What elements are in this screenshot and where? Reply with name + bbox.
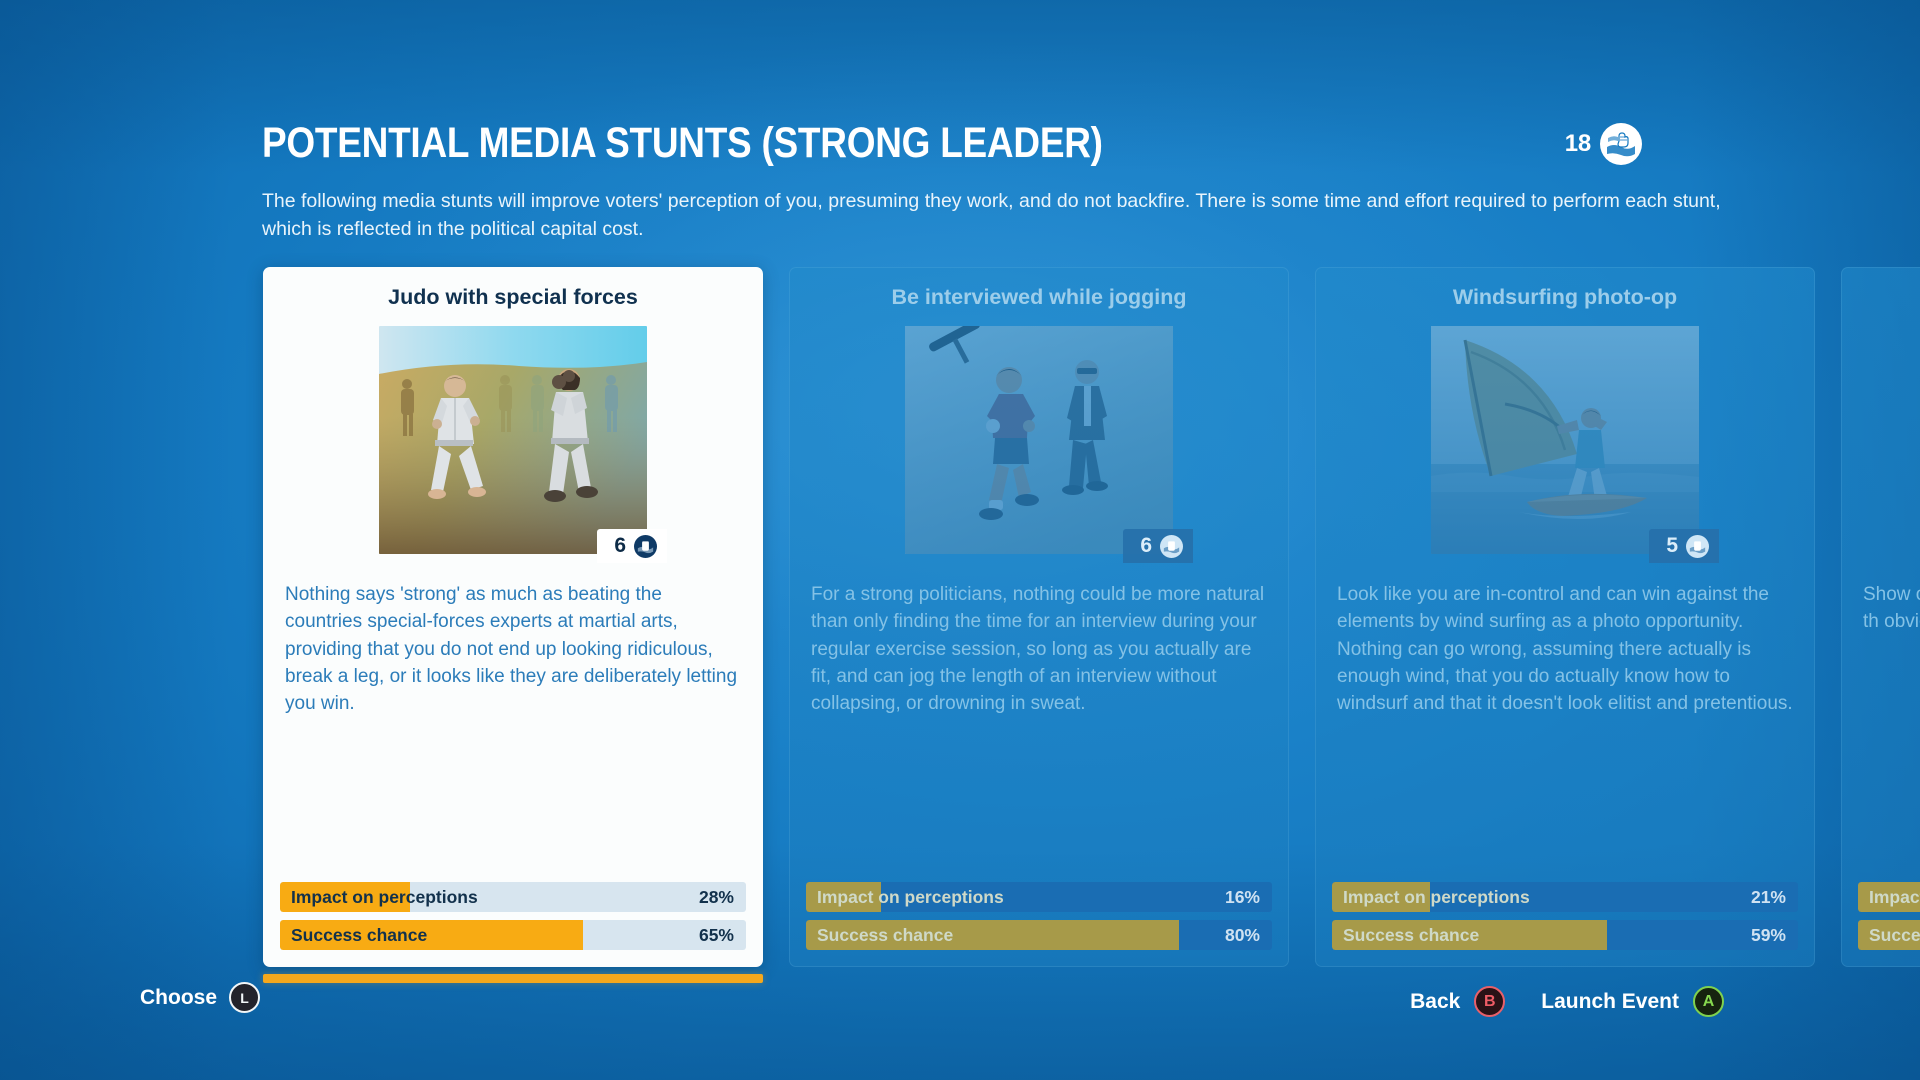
stunt-card-jogging[interactable]: Be interviewed while jogging [789,267,1289,967]
page-intro-text: The following media stunts will improve … [262,187,1742,243]
page-header: POTENTIAL MEDIA STUNTS (STRONG LEADER) 1… [262,120,1662,243]
card-stats: Impact on perceptions 21% Success chance… [1332,882,1798,950]
fist-globe-icon [1160,535,1183,558]
card-title: Judo with special forces [285,285,741,315]
card-stats: Impact on perceptions 16% Success chance… [806,882,1272,950]
selected-card-indicator [263,974,763,983]
stat-impact: Impact on perceptions 28% [280,882,746,912]
card-title: Play [1863,285,1920,315]
stat-value: 65% [699,925,746,946]
stat-label: Success [1858,925,1920,946]
windsurfing-artwork [1431,326,1699,554]
card-stats: Impact on perceptions 28% Success chance… [280,882,746,950]
card-description: Look like you are in-control and can win… [1337,581,1793,882]
cost-badge: 6 [597,529,667,563]
stunt-card-judo[interactable]: Judo with special forces [263,267,763,967]
stunt-card-partial[interactable]: Play [1841,267,1920,967]
stat-success: Success chance 59% [1332,920,1798,950]
b-button[interactable]: B [1474,986,1505,1017]
card-artwork-wrapper: 6 [905,326,1173,554]
cost-value: 6 [1140,534,1152,558]
jogging-artwork [905,326,1173,554]
stat-success: Success [1858,920,1920,950]
card-artwork-wrapper: 6 [379,326,647,554]
cost-badge: 5 [1649,529,1719,563]
cost-badge: 6 [1123,529,1193,563]
judo-artwork [379,326,647,554]
stat-success: Success chance 80% [806,920,1272,950]
game-screen: POTENTIAL MEDIA STUNTS (STRONG LEADER) 1… [0,0,1920,1080]
footer-right-hints: Back B Launch Event A [1410,986,1724,1017]
card-artwork-wrapper: 5 [1431,326,1699,554]
stunt-card-list[interactable]: Judo with special forces [263,267,1920,967]
card-stats: Impact on Success [1858,882,1920,950]
stat-value: 80% [1225,925,1272,946]
launch-event-label: Launch Event [1541,990,1679,1014]
stat-value: 59% [1751,925,1798,946]
stat-label: Success chance [280,925,427,946]
political-capital-value: 18 [1565,130,1591,158]
cost-value: 6 [614,534,626,558]
stat-impact: Impact on perceptions 21% [1332,882,1798,912]
fist-globe-icon [634,535,657,558]
page-title: POTENTIAL MEDIA STUNTS (STRONG LEADER) [262,120,1103,167]
card-title: Be interviewed while jogging [811,285,1267,315]
stat-label: Impact on perceptions [280,887,478,908]
political-capital-counter: 18 [1565,123,1642,165]
footer-left-hints: Choose L [140,982,260,1013]
stat-label: Impact on perceptions [1332,887,1530,908]
card-title: Windsurfing photo-op [1337,285,1793,315]
choose-label: Choose [140,986,217,1010]
fist-globe-icon [1600,123,1642,165]
card-description: Show off y harmless a This shoul actuall… [1863,581,1920,882]
stat-value: 21% [1751,887,1798,908]
stat-value: 16% [1225,887,1272,908]
back-label: Back [1410,990,1460,1014]
stick-l-button[interactable]: L [229,982,260,1013]
stat-success: Success chance 65% [280,920,746,950]
stat-label: Success chance [806,925,953,946]
stat-impact: Impact on [1858,882,1920,912]
stat-label: Impact on perceptions [806,887,1004,908]
stunt-card-windsurfing[interactable]: Windsurfing photo-op [1315,267,1815,967]
fist-globe-icon [1686,535,1709,558]
card-description: Nothing says 'strong' as much as beating… [285,581,741,882]
stat-value: 28% [699,887,746,908]
stat-label: Success chance [1332,925,1479,946]
stat-impact: Impact on perceptions 16% [806,882,1272,912]
a-button[interactable]: A [1693,986,1724,1017]
title-row: POTENTIAL MEDIA STUNTS (STRONG LEADER) 1… [262,120,1652,167]
cost-value: 5 [1666,534,1678,558]
card-description: For a strong politicians, nothing could … [811,581,1267,882]
stat-label: Impact on [1858,887,1920,908]
